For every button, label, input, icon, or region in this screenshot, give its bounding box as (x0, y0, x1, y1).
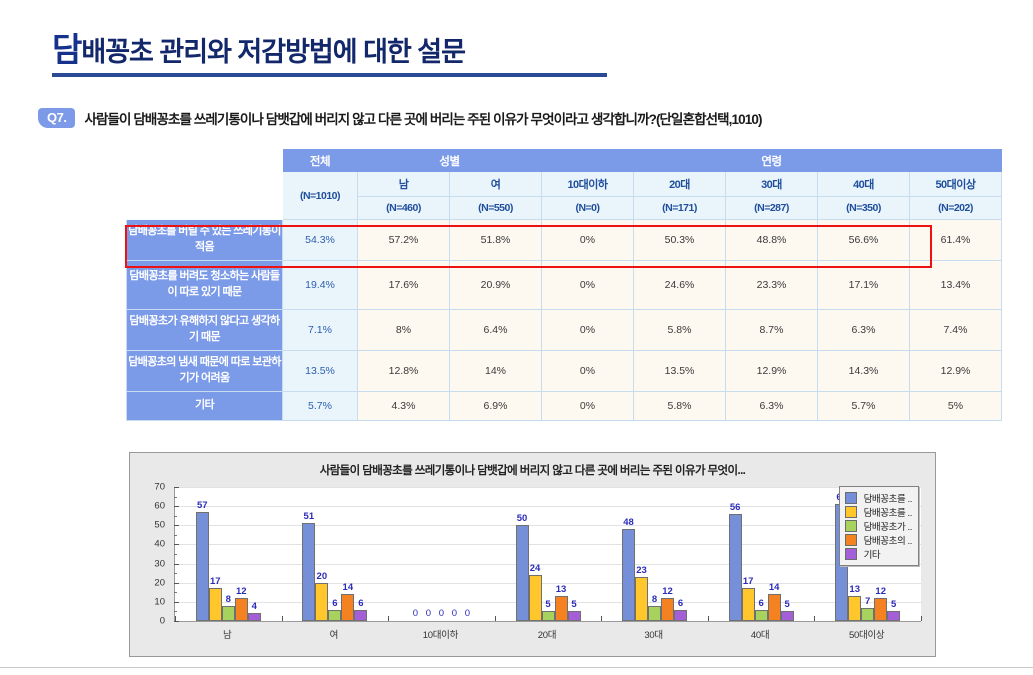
y-axis-tick-label: 70 (154, 482, 165, 493)
chart-bar (742, 588, 755, 621)
chart-bar-value-label: 23 (636, 565, 647, 576)
cell-20s: 24.6% (634, 261, 726, 310)
x-axis-tick (495, 616, 496, 621)
cell-50s-plus: 7.4% (910, 310, 1002, 351)
y-axis-tick-label: 50 (154, 520, 165, 531)
cell-30s: 48.8% (726, 220, 818, 261)
cell-female: 6.9% (450, 392, 542, 421)
chart-bar (622, 529, 635, 621)
x-axis-tick (282, 616, 283, 621)
table-row: 담배꽁초를 버릴 수 있는 쓰레기통이 적음 54.3% 57.2% 51.8%… (127, 220, 1002, 261)
chart-gridline (175, 564, 921, 565)
chart-bar-value-label: 6 (678, 598, 683, 609)
chart-bar (196, 512, 209, 621)
y-axis-tick-label: 0 (160, 616, 165, 627)
row-label: 담배꽁초를 버릴 수 있는 쓰레기통이 적음 (127, 220, 283, 261)
chart-bar (555, 596, 568, 621)
legend-item: 담배꽁초가 .. (845, 519, 912, 533)
y-axis-tick-label: 40 (154, 539, 165, 550)
cell-40s: 17.1% (818, 261, 910, 310)
y-axis-tick-label: 60 (154, 501, 165, 512)
cell-under-10s: 0% (542, 310, 634, 351)
subheader-under-10s: 10대이하 (542, 172, 634, 197)
cell-20s: 5.8% (634, 310, 726, 351)
x-axis-category-label: 여 (330, 627, 338, 641)
group-header-gender: 성별 (358, 150, 542, 172)
table-row: 담배꽁초를 버려도 청소하는 사람들이 따로 있기 때문 19.4% 17.6%… (127, 261, 1002, 310)
y-axis-tick (174, 525, 179, 526)
y-axis-tick-label: 10 (154, 596, 165, 607)
cell-40s: 6.3% (818, 310, 910, 351)
y-axis-minor-tick (174, 516, 177, 517)
cell-30s: 23.3% (726, 261, 818, 310)
chart-bar-value-label: 57 (197, 500, 208, 511)
y-axis-tick (174, 544, 179, 545)
legend-item: 담배꽁초를 .. (845, 505, 912, 519)
legend-item: 기타 (845, 547, 912, 561)
title-underline (52, 73, 607, 77)
cell-female: 20.9% (450, 261, 542, 310)
y-axis-minor-tick (174, 535, 177, 536)
chart-bar (302, 523, 315, 621)
cell-50s-plus: 61.4% (910, 220, 1002, 261)
x-axis-tick (708, 616, 709, 621)
legend-color-swatch (845, 506, 857, 518)
footer-divider (0, 667, 1033, 668)
chart-bar (781, 611, 794, 621)
x-axis-category-label: 40대 (751, 627, 769, 641)
cell-50s-plus: 13.4% (910, 261, 1002, 310)
chart-bar (661, 598, 674, 621)
cell-20s: 5.8% (634, 392, 726, 421)
chart-bar (235, 598, 248, 621)
chart-bar-value-label: 17 (743, 576, 754, 587)
cell-30s: 8.7% (726, 310, 818, 351)
chart-bar-value-label: 12 (875, 586, 886, 597)
subheader-male: 남 (358, 172, 450, 197)
chart-bar-value-label: 12 (662, 586, 673, 597)
y-axis-minor-tick (174, 592, 177, 593)
chart-zero-marker: 0 (426, 608, 431, 619)
subheader-30s: 30대 (726, 172, 818, 197)
chart-bar (768, 594, 781, 621)
chart-bar (755, 610, 768, 621)
subheader-female: 여 (450, 172, 542, 197)
chart-bar (729, 514, 742, 621)
cell-20s: 13.5% (634, 351, 726, 392)
chart-bar-value-label: 14 (769, 582, 780, 593)
legend-color-swatch (845, 492, 857, 504)
chart-zero-marker: 0 (465, 608, 470, 619)
legend-label: 담배꽁초를 .. (864, 505, 912, 519)
chart-bar-value-label: 5 (891, 599, 896, 610)
legend-color-swatch (845, 548, 857, 560)
chart-bar (568, 611, 581, 621)
y-axis-tick (174, 621, 179, 622)
table-row: 담배꽁초가 유해하지 않다고 생각하기 때문 7.1% 8% 6.4% 0% 5… (127, 310, 1002, 351)
cell-male: 8% (358, 310, 450, 351)
count-female: (N=550) (450, 197, 542, 220)
cell-50s-plus: 12.9% (910, 351, 1002, 392)
y-axis-minor-tick (174, 611, 177, 612)
bar-chart-panel: 사람들이 담배꽁초를 쓰레기통이나 담뱃갑에 버리지 않고 다른 곳에 버리는 … (129, 452, 936, 657)
chart-bar-value-label: 56 (730, 502, 741, 513)
table-group-header-row: 전체 성별 연령 (127, 150, 1002, 172)
y-axis-tick (174, 506, 179, 507)
cell-under-10s: 0% (542, 261, 634, 310)
cell-male: 17.6% (358, 261, 450, 310)
row-label: 담배꽁초가 유해하지 않다고 생각하기 때문 (127, 310, 283, 351)
count-under-10s: (N=0) (542, 197, 634, 220)
cell-50s-plus: 5% (910, 392, 1002, 421)
cell-under-10s: 0% (542, 351, 634, 392)
y-axis-minor-tick (174, 497, 177, 498)
cell-female: 14% (450, 351, 542, 392)
chart-bar (648, 606, 661, 621)
chart-bar (354, 610, 367, 621)
y-axis-tick-label: 30 (154, 558, 165, 569)
legend-label: 담배꽁초가 .. (864, 519, 912, 533)
cell-total: 54.3% (283, 220, 358, 261)
chart-bar (542, 611, 555, 621)
y-axis-tick (174, 583, 179, 584)
chart-bar (848, 596, 861, 621)
cell-30s: 12.9% (726, 351, 818, 392)
y-axis-tick-label: 20 (154, 577, 165, 588)
group-header-total: 전체 (283, 150, 358, 172)
chart-gridline (175, 544, 921, 545)
legend-color-swatch (845, 534, 857, 546)
chart-bar (209, 588, 222, 621)
chart-zero-marker: 0 (413, 608, 418, 619)
chart-bar (887, 611, 900, 621)
legend-label: 담배꽁초를 .. (864, 491, 912, 505)
chart-bar-value-label: 8 (652, 594, 657, 605)
chart-gridline (175, 525, 921, 526)
subheader-total-count: (N=1010) (283, 172, 358, 220)
chart-bar (674, 610, 687, 621)
chart-bar (328, 610, 341, 621)
count-20s: (N=171) (634, 197, 726, 220)
x-axis-tick (814, 616, 815, 621)
cell-total: 7.1% (283, 310, 358, 351)
page-title-rest: 배꽁초 관리와 저감방법에 대한 설문 (81, 37, 465, 67)
chart-bar-value-label: 6 (358, 598, 363, 609)
chart-bar-value-label: 5 (571, 599, 576, 610)
legend-label: 담배꽁초의 .. (864, 533, 912, 547)
survey-crosstab-table: 전체 성별 연령 (N=1010) 남 여 10대이하 20대 30대 40대 … (126, 149, 1002, 421)
question-text: 사람들이 담배꽁초를 쓰레기통이나 담뱃갑에 버리지 않고 다른 곳에 버리는 … (84, 112, 761, 127)
cell-under-10s: 0% (542, 220, 634, 261)
chart-bar-value-label: 6 (758, 598, 763, 609)
y-axis-tick (174, 602, 179, 603)
cell-30s: 6.3% (726, 392, 818, 421)
x-axis-category-label: 남 (223, 627, 231, 641)
table-row: 담배꽁초의 냄새 때문에 따로 보관하기가 어려움 13.5% 12.8% 14… (127, 351, 1002, 392)
cell-female: 51.8% (450, 220, 542, 261)
chart-bar-value-label: 4 (252, 601, 257, 612)
cell-total: 19.4% (283, 261, 358, 310)
chart-bar-value-label: 8 (226, 594, 231, 605)
x-axis-category-label: 10대이하 (423, 627, 458, 641)
chart-legend: 담배꽁초를 ..담배꽁초를 ..담배꽁초가 ..담배꽁초의 ..기타 (839, 486, 919, 566)
chart-bar (315, 583, 328, 621)
x-axis-category-label: 50대이상 (849, 627, 884, 641)
cell-40s: 56.6% (818, 220, 910, 261)
count-40s: (N=350) (818, 197, 910, 220)
group-header-age: 연령 (542, 150, 1002, 172)
table-head: 전체 성별 연령 (N=1010) 남 여 10대이하 20대 30대 40대 … (127, 150, 1002, 220)
subheader-40s: 40대 (818, 172, 910, 197)
cell-total: 5.7% (283, 392, 358, 421)
page-title: 담배꽁초 관리와 저감방법에 대한 설문 (52, 32, 612, 68)
x-axis-category-label: 20대 (538, 627, 556, 641)
chart-zero-marker: 0 (439, 608, 444, 619)
chart-bar (222, 606, 235, 621)
cell-20s: 50.3% (634, 220, 726, 261)
row-label: 담배꽁초의 냄새 때문에 따로 보관하기가 어려움 (127, 351, 283, 392)
chart-bar (529, 575, 542, 621)
table-body: 담배꽁초를 버릴 수 있는 쓰레기통이 적음 54.3% 57.2% 51.8%… (127, 220, 1002, 421)
cell-male: 57.2% (358, 220, 450, 261)
page-title-lead: 담 (52, 31, 81, 68)
cell-40s: 14.3% (818, 351, 910, 392)
chart-bar-value-label: 17 (210, 576, 221, 587)
legend-label: 기타 (864, 547, 881, 561)
x-axis-tick (921, 616, 922, 621)
chart-bar-value-label: 20 (317, 571, 328, 582)
chart-bar-value-label: 12 (236, 586, 247, 597)
chart-plot-area: 5717812451206146000005024513548238126561… (174, 487, 921, 622)
cell-total: 13.5% (283, 351, 358, 392)
table-corner-cell (127, 150, 283, 220)
chart-bar (248, 613, 261, 621)
chart-bar-value-label: 50 (517, 513, 528, 524)
subheader-50s-plus: 50대이상 (910, 172, 1002, 197)
chart-gridline (175, 583, 921, 584)
legend-item: 담배꽁초를 .. (845, 491, 912, 505)
chart-bar-value-label: 13 (556, 584, 567, 595)
x-axis-tick (388, 616, 389, 621)
legend-color-swatch (845, 520, 857, 532)
chart-bar (341, 594, 354, 621)
table-row: 기타 5.7% 4.3% 6.9% 0% 5.8% 6.3% 5.7% 5% (127, 392, 1002, 421)
chart-bar-value-label: 5 (784, 599, 789, 610)
question-number-badge: Q7. (38, 108, 75, 128)
chart-bar-value-label: 51 (304, 511, 315, 522)
chart-y-axis: 010203040506070 (130, 487, 170, 622)
count-30s: (N=287) (726, 197, 818, 220)
x-axis-category-label: 30대 (644, 627, 662, 641)
legend-item: 담배꽁초의 .. (845, 533, 912, 547)
chart-title: 사람들이 담배꽁초를 쓰레기통이나 담뱃갑에 버리지 않고 다른 곳에 버리는 … (130, 462, 935, 478)
question-block: Q7.사람들이 담배꽁초를 쓰레기통이나 담뱃갑에 버리지 않고 다른 곳에 버… (38, 108, 1023, 132)
chart-gridline (175, 487, 921, 488)
y-axis-minor-tick (174, 573, 177, 574)
chart-bar-value-label: 24 (530, 563, 541, 574)
subheader-20s: 20대 (634, 172, 726, 197)
count-50s-plus: (N=202) (910, 197, 1002, 220)
title-block: 담배꽁초 관리와 저감방법에 대한 설문 (52, 32, 612, 77)
chart-bar-value-label: 6 (332, 598, 337, 609)
y-axis-minor-tick (174, 554, 177, 555)
row-label: 기타 (127, 392, 283, 421)
cell-male: 12.8% (358, 351, 450, 392)
chart-bar (516, 525, 529, 621)
cell-40s: 5.7% (818, 392, 910, 421)
chart-bar (874, 598, 887, 621)
chart-zero-marker: 0 (452, 608, 457, 619)
row-label: 담배꽁초를 버려도 청소하는 사람들이 따로 있기 때문 (127, 261, 283, 310)
count-male: (N=460) (358, 197, 450, 220)
y-axis-tick (174, 487, 179, 488)
chart-gridline (175, 506, 921, 507)
cell-under-10s: 0% (542, 392, 634, 421)
chart-bar-value-label: 14 (343, 582, 354, 593)
chart-bar-value-label: 7 (865, 596, 870, 607)
cell-male: 4.3% (358, 392, 450, 421)
x-axis-tick (601, 616, 602, 621)
chart-bar (861, 608, 874, 621)
chart-bar (635, 577, 648, 621)
chart-bar-value-label: 48 (623, 517, 634, 528)
chart-bar-value-label: 13 (849, 584, 860, 595)
chart-bar-value-label: 5 (545, 599, 550, 610)
cell-female: 6.4% (450, 310, 542, 351)
y-axis-tick (174, 564, 179, 565)
